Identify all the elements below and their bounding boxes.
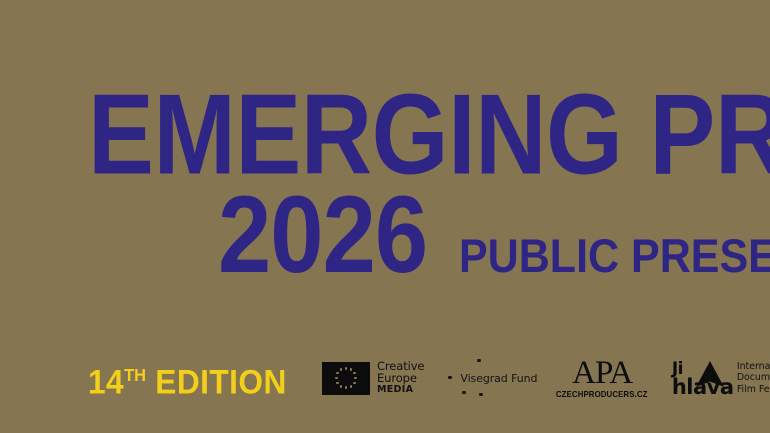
ji-hlava-desc-line1: International xyxy=(737,361,770,372)
eu-star-icon xyxy=(340,385,343,388)
ji-hlava-description: International Documentary Film Festival xyxy=(737,361,770,395)
headline-second-line: 2026 PUBLIC PRESENTATION xyxy=(218,186,770,290)
subtitle-text: PUBLIC PRESENTATION xyxy=(459,232,770,279)
visegrad-dot-icon xyxy=(462,391,465,394)
edition-ordinal: TH xyxy=(124,365,146,385)
eu-star-icon xyxy=(354,377,357,380)
visegrad-dot-icon xyxy=(479,393,482,396)
visegrad-fund-label: Visegrad Fund xyxy=(460,372,537,385)
eu-flag-icon xyxy=(322,362,370,395)
edition-label: 14TH EDITION xyxy=(88,358,287,399)
ji-hlava-desc-line2: Documentary xyxy=(737,372,770,383)
eu-star-icon xyxy=(345,386,348,389)
eu-star-icon xyxy=(335,377,338,380)
eu-star-icon xyxy=(336,372,339,375)
ji-hlava-wordmark: Ji hlava xyxy=(672,356,728,400)
eu-star-icon xyxy=(353,382,356,385)
creative-europe-text: Creative Europe MEDIA xyxy=(377,361,424,395)
eu-star-icon xyxy=(353,372,356,375)
visegrad-dot-icon xyxy=(477,359,480,362)
eu-star-icon xyxy=(340,368,343,371)
sponsor-logo-strip: Creative Europe MEDIA Visegrad Fund APA … xyxy=(322,350,770,406)
mountain-triangle-icon xyxy=(696,361,724,387)
logo-creative-europe-media: Creative Europe MEDIA xyxy=(322,356,424,400)
eu-star-icon xyxy=(336,382,339,385)
eu-star-icon xyxy=(350,368,353,371)
apa-wordmark: APA xyxy=(554,358,649,389)
logo-visegrad-fund: Visegrad Fund xyxy=(446,355,538,401)
edition-number: 14 xyxy=(88,363,124,401)
apa-url-label: CZECHPRODUCERS.CZ xyxy=(556,390,648,399)
logo-apa: APA CZECHPRODUCERS.CZ xyxy=(554,358,649,399)
creative-europe-line2: Europe xyxy=(377,373,424,385)
page-title: EMERGING PRODUCERS xyxy=(88,77,770,191)
visegrad-dot-icon xyxy=(448,376,451,379)
edition-word: EDITION xyxy=(155,363,287,401)
logo-ji-hlava: Ji hlava International Documentary Film … xyxy=(672,356,770,400)
creative-europe-line3: MEDIA xyxy=(377,385,424,395)
poster-canvas: EMERGING PRODUCERS 2026 PUBLIC PRESENTAT… xyxy=(0,0,770,433)
year-text: 2026 xyxy=(218,181,427,290)
eu-star-icon xyxy=(345,367,348,370)
eu-star-icon xyxy=(350,385,353,388)
ji-hlava-desc-line3: Film Festival xyxy=(737,384,770,395)
